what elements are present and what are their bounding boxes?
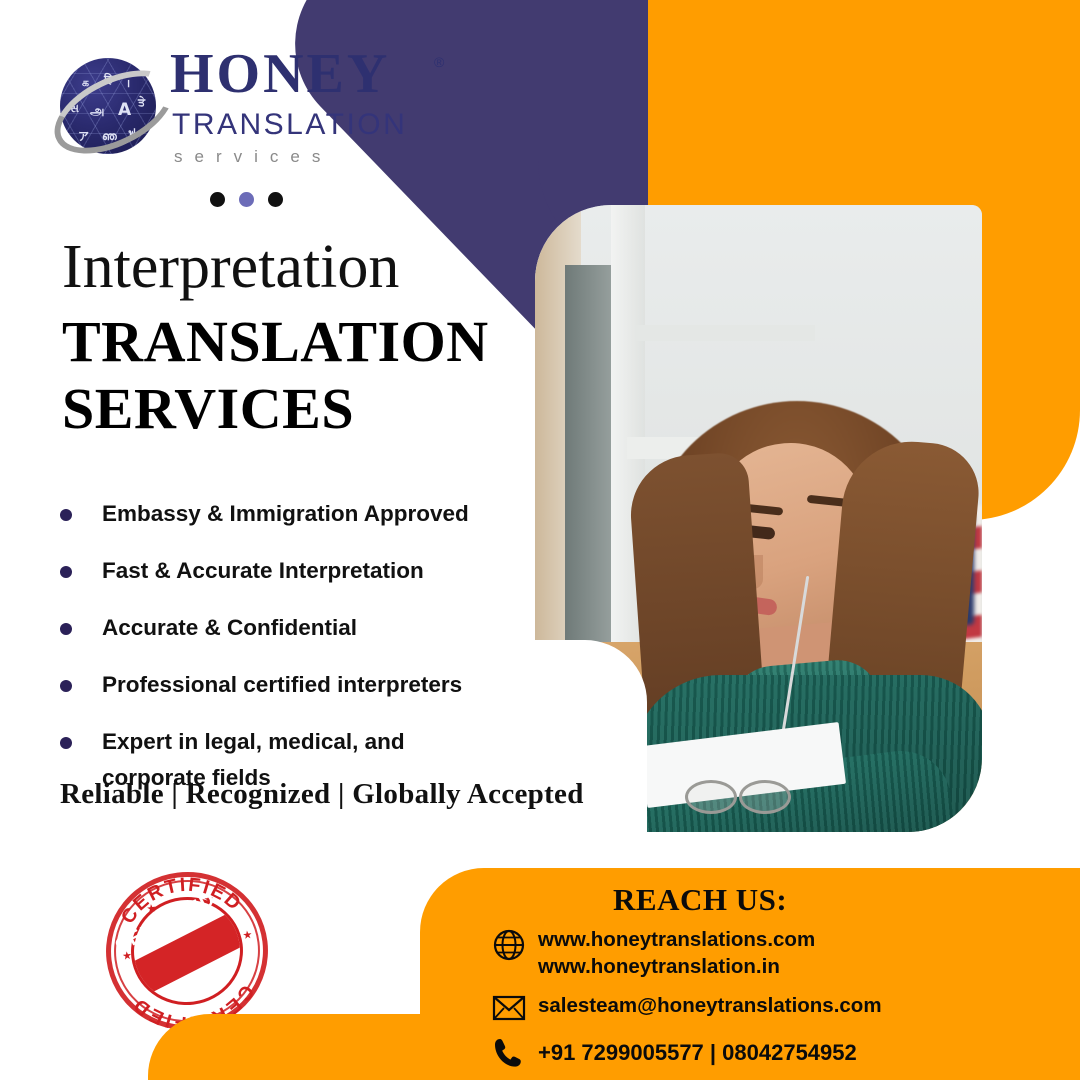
contact-heading: REACH US:	[613, 882, 787, 918]
globe-icon: க हि । સ அ A ਤੇ ア ഞ ฟ	[52, 52, 164, 164]
brand-logo: க हि । સ அ A ਤੇ ア ഞ ฟ HONEY ® TRANSLATIO…	[52, 46, 452, 176]
dot-2	[239, 192, 254, 207]
headline-bold-line-1: TRANSLATION	[62, 308, 489, 375]
logo-primary-text: HONEY	[170, 46, 390, 102]
list-item: Fast & Accurate Interpretation	[56, 553, 526, 589]
contact-row-website[interactable]: www.honeytranslations.com www.honeytrans…	[492, 926, 1052, 980]
contact-row-email[interactable]: salesteam@honeytranslations.com	[492, 992, 1052, 1022]
certified-stamp-icon: CERTIFIED CERTIFIED ★ ★ ★ ★ CERTIFIED	[97, 863, 277, 1040]
headline-bold-line-2: SERVICES	[62, 375, 489, 442]
phone-numbers[interactable]: +91 7299005577 | 08042754952	[538, 1034, 857, 1067]
headline-script: Interpretation	[62, 236, 399, 298]
list-item: Accurate & Confidential	[56, 610, 526, 646]
list-item: Professional certified interpreters	[56, 667, 526, 703]
envelope-icon	[492, 992, 538, 1022]
website-2[interactable]: www.honeytranslation.in	[538, 953, 815, 980]
contact-row-phone[interactable]: +91 7299005577 | 08042754952	[492, 1034, 1052, 1070]
website-1[interactable]: www.honeytranslations.com	[538, 926, 815, 953]
logo-secondary-text: TRANSLATION	[172, 110, 407, 140]
logo-tertiary-text: services	[174, 148, 332, 165]
dot-1	[210, 192, 225, 207]
tagline-text: Reliable | Recognized | Globally Accepte…	[60, 778, 584, 811]
dot-3	[268, 192, 283, 207]
headline-bold: TRANSLATION SERVICES	[62, 308, 489, 443]
decorative-dots	[210, 192, 283, 207]
list-item: Embassy & Immigration Approved	[56, 496, 526, 532]
phone-icon	[492, 1034, 538, 1070]
website-links[interactable]: www.honeytranslations.com www.honeytrans…	[538, 926, 815, 980]
contact-rows: www.honeytranslations.com www.honeytrans…	[492, 926, 1052, 1080]
registered-mark-icon: ®	[434, 54, 444, 70]
eyeglasses	[685, 776, 805, 810]
feature-list: Embassy & Immigration Approved Fast & Ac…	[56, 496, 526, 817]
email-address[interactable]: salesteam@honeytranslations.com	[538, 992, 882, 1019]
poster-canvas: க हि । સ அ A ਤੇ ア ഞ ฟ HONEY ® TRANSLATIO…	[0, 0, 1080, 1080]
globe-icon	[492, 926, 538, 962]
